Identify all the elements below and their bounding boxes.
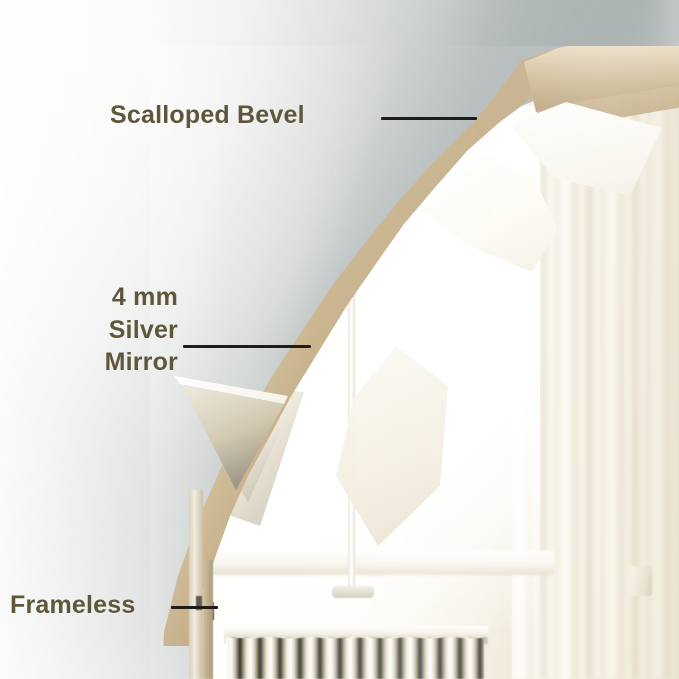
reflected-window-sill xyxy=(194,551,554,575)
reflected-radiator xyxy=(228,638,484,679)
callout-silver-mirror-line-2: Silver xyxy=(18,314,178,347)
callout-scalloped-bevel: Scalloped Bevel xyxy=(110,99,305,132)
callout-scalloped-bevel-label: Scalloped Bevel xyxy=(110,99,305,132)
reflected-cup xyxy=(630,566,652,596)
callout-frameless: Frameless xyxy=(10,589,136,622)
frameless-edge-strip xyxy=(189,490,203,679)
callout-silver-mirror-line-3: Mirror xyxy=(18,346,178,379)
reflected-pole-base xyxy=(332,586,374,598)
callout-frameless-label: Frameless xyxy=(10,589,136,622)
leader-line-silver-mirror xyxy=(183,345,311,348)
leader-line-scalloped-bevel xyxy=(381,117,477,120)
callout-silver-mirror: 4 mm Silver Mirror xyxy=(18,281,178,379)
frameless-edge-strip-inner xyxy=(203,560,213,679)
leader-line-frameless xyxy=(171,606,218,609)
callout-silver-mirror-line-1: 4 mm xyxy=(18,281,178,314)
product-feature-callout-image: Scalloped Bevel 4 mm Silver Mirror Frame… xyxy=(0,0,679,679)
